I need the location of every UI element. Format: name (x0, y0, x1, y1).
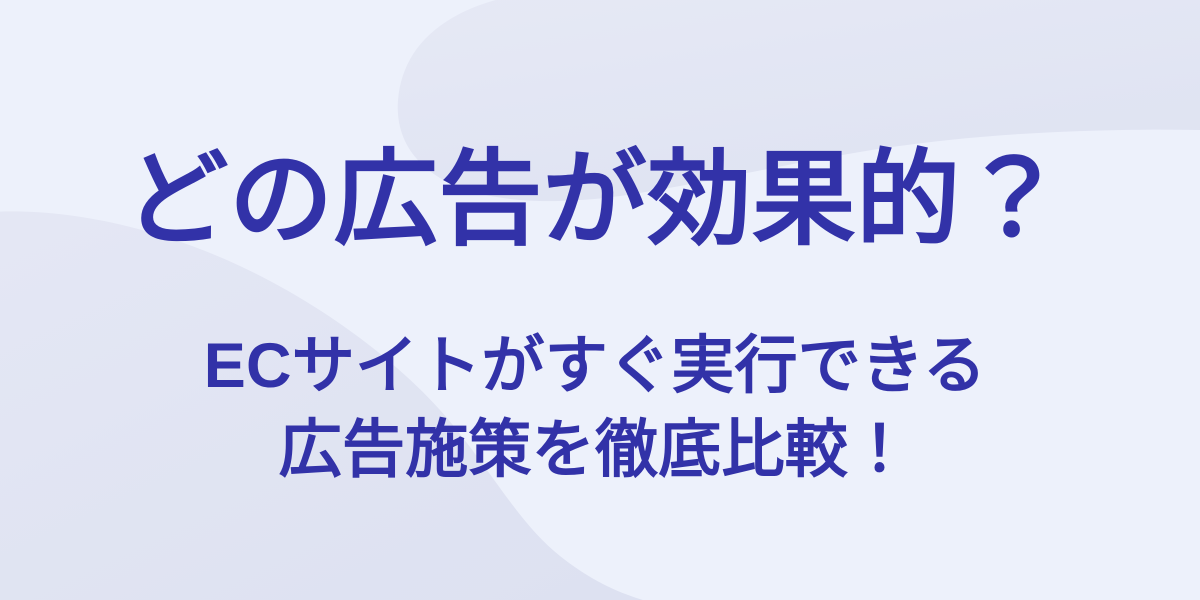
hero-content: どの広告が効果的？ ECサイトがすぐ実行できる 広告施策を徹底比較！ (0, 0, 1200, 600)
page-title: どの広告が効果的？ (0, 140, 1190, 261)
page-subtitle: ECサイトがすぐ実行できる 広告施策を徹底比較！ (0, 325, 1190, 493)
hero-banner: どの広告が効果的？ ECサイトがすぐ実行できる 広告施策を徹底比較！ (0, 0, 1200, 600)
subtitle-line-2: 広告施策を徹底比較！ (0, 409, 1190, 493)
subtitle-line-1: ECサイトがすぐ実行できる (0, 325, 1190, 409)
